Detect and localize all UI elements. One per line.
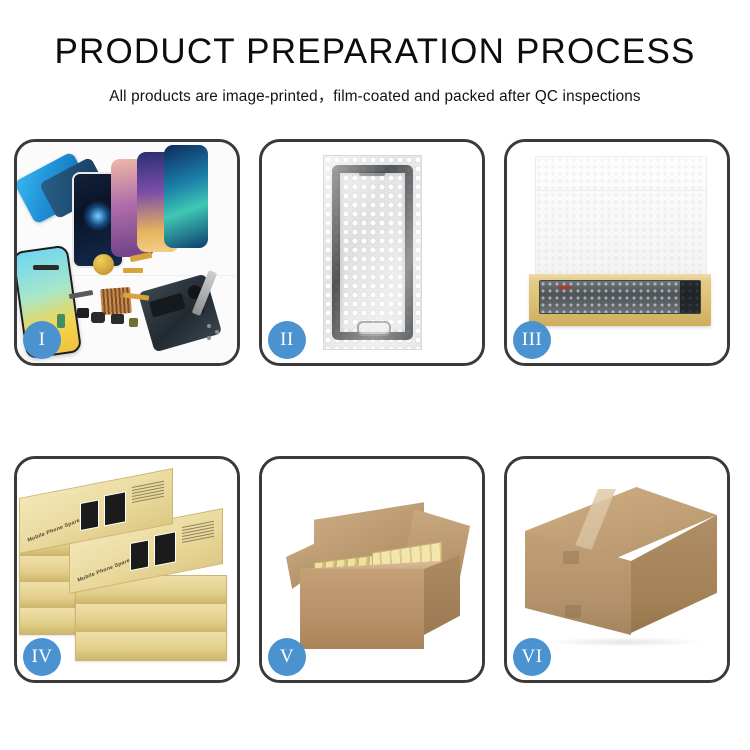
- process-step-panel-5: V: [259, 456, 485, 683]
- shipping-carton-open: [286, 493, 466, 653]
- product-preparation-infographic: PRODUCT PREPARATION PROCESS All products…: [0, 0, 750, 750]
- process-step-panel-6: VI: [504, 456, 730, 683]
- bubble-wrap-film: [323, 155, 422, 350]
- process-step-panel-4: Mobile Phone Spare Parts Mobile Phone Sp…: [14, 456, 240, 683]
- step-badge-6: VI: [513, 638, 551, 676]
- retail-box-edge-6: [75, 603, 227, 633]
- process-step-grid: I II: [14, 139, 736, 683]
- carton-front-face: [300, 569, 424, 649]
- retail-box-spec-list-1: [132, 481, 164, 505]
- speaker-coil-icon: [93, 254, 114, 275]
- process-step-panel-1: I: [14, 139, 240, 366]
- retail-box-thumb-2b: [154, 531, 176, 566]
- home-button-icon: [357, 321, 391, 336]
- earpiece-slot-icon: [359, 172, 385, 176]
- step-badge-1: I: [23, 321, 61, 359]
- carton-tab-lower: [565, 605, 581, 618]
- screen-connector-end: [680, 281, 700, 313]
- copper-shield-icon: [100, 287, 132, 315]
- step-badge-3: III: [513, 321, 551, 359]
- warning-label-icon: [558, 286, 572, 289]
- vibration-motor-icon: [91, 312, 105, 323]
- earpiece-mesh-icon: [33, 265, 59, 270]
- process-step-panel-3: III: [504, 139, 730, 366]
- retail-box-thumb-2a: [130, 539, 149, 571]
- retail-box-spec-list-2: [182, 521, 214, 545]
- retail-box-thumb-1b: [104, 491, 126, 526]
- page-subtitle: All products are image-printed，film-coat…: [0, 84, 750, 106]
- carton-tab-upper: [563, 551, 579, 564]
- retail-box-thumb-1a: [80, 499, 99, 531]
- flex-cable-2-icon: [123, 268, 143, 273]
- camera-module-icon: [111, 314, 124, 324]
- kraft-box-open: [529, 156, 711, 332]
- page-title: PRODUCT PREPARATION PROCESS: [0, 34, 750, 71]
- phone-screen-teal-icon: [164, 145, 208, 248]
- header: PRODUCT PREPARATION PROCESS All products…: [0, 0, 750, 106]
- step-badge-5: V: [268, 638, 306, 676]
- loudspeaker-icon: [77, 308, 89, 318]
- shipping-carton-sealed: [525, 487, 717, 653]
- screw-1-icon: [207, 324, 211, 328]
- packed-screen-icon: [539, 280, 701, 314]
- screw-2-icon: [215, 330, 219, 334]
- battery-connector-icon: [129, 318, 138, 327]
- foam-liner-icon: [535, 156, 707, 278]
- carton-side-face: [424, 555, 460, 635]
- retail-box-edge-7: [75, 631, 227, 661]
- process-step-panel-2: II: [259, 139, 485, 366]
- screw-3-icon: [207, 336, 211, 340]
- carton-shadow: [545, 637, 705, 647]
- screen-glass-frame-icon: [332, 165, 413, 340]
- step-badge-4: IV: [23, 638, 61, 676]
- kraft-tray-icon: [529, 274, 711, 326]
- sim-tray-icon: [57, 314, 65, 328]
- step-badge-2: II: [268, 321, 306, 359]
